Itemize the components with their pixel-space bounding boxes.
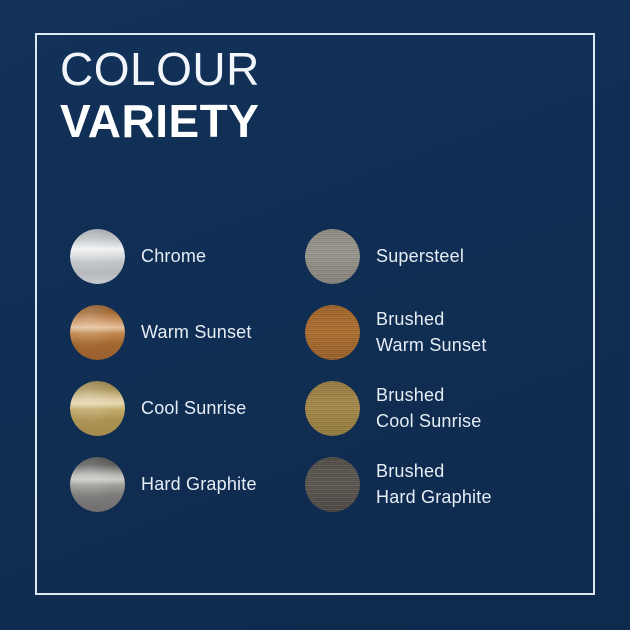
swatch-label: Brushed Warm Sunset [376, 306, 487, 358]
swatch-fill [305, 457, 360, 512]
colour-swatch-disc[interactable] [305, 381, 360, 436]
swatch-fill [70, 305, 125, 360]
swatch-fill [70, 381, 125, 436]
page-title-line-2: VARIETY [60, 98, 260, 144]
swatch-label: Warm Sunset [141, 319, 252, 345]
colour-variety-poster: COLOUR VARIETY ChromeSupersteelWarm Suns… [0, 0, 630, 630]
colour-swatch-disc[interactable] [70, 457, 125, 512]
swatch-item[interactable]: Warm Sunset [70, 294, 305, 370]
swatch-item[interactable]: Brushed Warm Sunset [305, 294, 540, 370]
swatch-label: Chrome [141, 243, 206, 269]
swatch-item[interactable]: Hard Graphite [70, 446, 305, 522]
swatch-label: Hard Graphite [141, 471, 257, 497]
colour-swatch-disc[interactable] [70, 229, 125, 284]
swatch-fill [305, 305, 360, 360]
swatch-label: Brushed Cool Sunrise [376, 382, 481, 434]
page-title-line-1: COLOUR [60, 46, 260, 92]
swatch-fill [70, 457, 125, 512]
page-title: COLOUR VARIETY [60, 46, 260, 144]
swatch-item[interactable]: Chrome [70, 218, 305, 294]
colour-swatch-disc[interactable] [305, 305, 360, 360]
colour-swatch-disc[interactable] [70, 381, 125, 436]
swatch-item[interactable]: Supersteel [305, 218, 540, 294]
colour-swatch-disc[interactable] [305, 457, 360, 512]
swatch-item[interactable]: Brushed Cool Sunrise [305, 370, 540, 446]
swatch-label: Cool Sunrise [141, 395, 246, 421]
swatch-item[interactable]: Brushed Hard Graphite [305, 446, 540, 522]
swatch-label: Brushed Hard Graphite [376, 458, 492, 510]
swatch-label: Supersteel [376, 243, 464, 269]
colour-swatch-disc[interactable] [305, 229, 360, 284]
colour-swatch-disc[interactable] [70, 305, 125, 360]
swatch-fill [305, 229, 360, 284]
swatch-item[interactable]: Cool Sunrise [70, 370, 305, 446]
swatch-fill [305, 381, 360, 436]
swatch-fill [70, 229, 125, 284]
colour-swatch-grid: ChromeSupersteelWarm SunsetBrushed Warm … [70, 218, 540, 522]
